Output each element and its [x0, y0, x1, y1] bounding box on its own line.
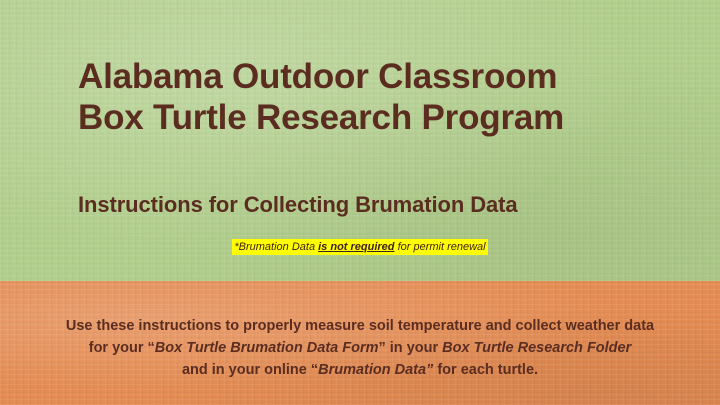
note-container: *Brumation Data is not required for perm…	[0, 237, 720, 255]
body-line-3-lead: and in your online “	[182, 362, 318, 378]
body-line-2-mid: ” in your	[379, 340, 443, 356]
body-line-3-tail: for each turtle.	[433, 362, 538, 378]
folder-name-emphasis: Box Turtle Research Folder	[442, 340, 631, 356]
slide: Alabama Outdoor Classroom Box Turtle Res…	[0, 0, 720, 405]
form-name-emphasis: Box Turtle Brumation Data Form	[155, 340, 379, 356]
online-data-emphasis: Brumation Data”	[318, 362, 433, 378]
body-line-2: for your “Box Turtle Brumation Data Form…	[28, 338, 692, 360]
body-line-1-text: Use these instructions to properly measu…	[66, 318, 654, 334]
body-text: Use these instructions to properly measu…	[28, 316, 692, 381]
body-line-1: Use these instructions to properly measu…	[28, 316, 692, 338]
status-badge: *Brumation Data is not required for perm…	[232, 239, 487, 255]
subtitle: Instructions for Collecting Brumation Da…	[78, 192, 678, 218]
title-line-2: Box Turtle Research Program	[78, 97, 678, 138]
note-emphasis: is not required	[318, 241, 394, 253]
body-line-3: and in your online “Brumation Data” for …	[28, 360, 692, 382]
body-line-2-lead: for your “	[89, 340, 155, 356]
note-suffix: for permit renewal	[395, 241, 486, 253]
page-title: Alabama Outdoor Classroom Box Turtle Res…	[78, 56, 678, 139]
title-line-1: Alabama Outdoor Classroom	[78, 56, 678, 97]
note-prefix: *Brumation Data	[234, 241, 318, 253]
